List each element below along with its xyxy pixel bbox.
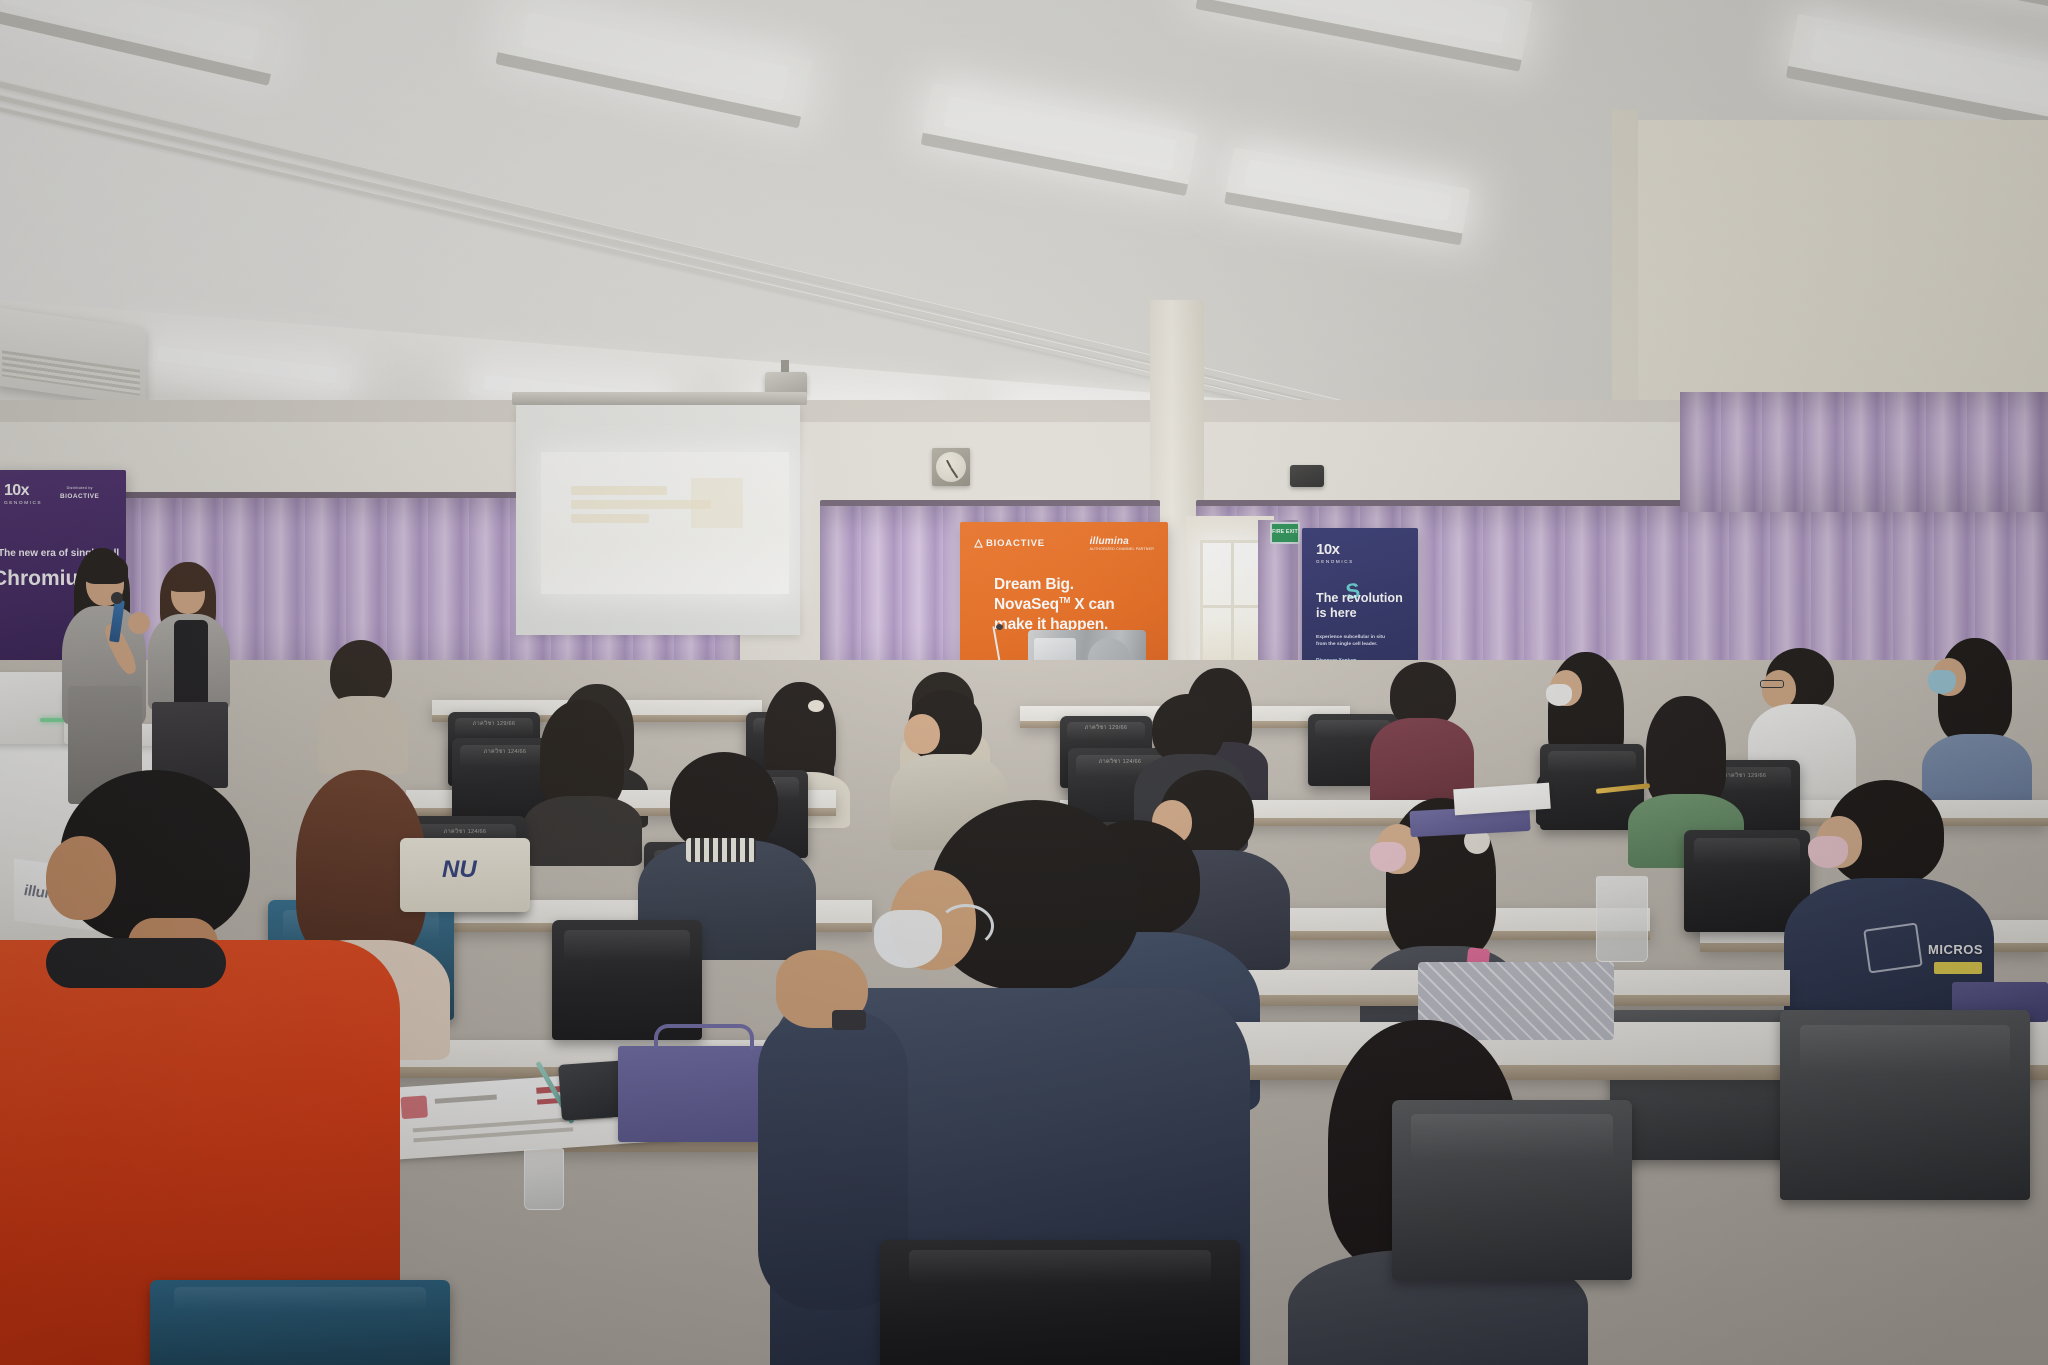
face-mask-foreground <box>874 910 942 968</box>
wall-clock-icon <box>932 448 970 486</box>
tenx-brand-sub-left: GENOMICS <box>4 501 42 506</box>
bioactive-triangle-icon <box>974 539 983 548</box>
illumina-logo: illumina AUTHORIZED CHANNEL PARTNER <box>1090 536 1154 551</box>
tenx-brand-blue: 10x <box>1316 542 1354 557</box>
chair-foreground-right-1[interactable] <box>1392 1100 1632 1280</box>
chair-tag-1: ภาควิชา 129/66 <box>473 720 516 728</box>
mask-ear-loop <box>938 904 994 948</box>
headline-line-1: Dream Big. <box>994 575 1115 595</box>
face-mask-teal <box>1928 670 1956 694</box>
tenx-brand-left: 10x <box>4 483 42 499</box>
wrist-watch <box>832 1010 866 1030</box>
chair-tag-7: ภาควิชา 124/66 <box>444 828 487 836</box>
xenium-headline-line-2: is here <box>1316 606 1410 621</box>
tenx-brand-sub-blue: GENOMICS <box>1316 559 1354 564</box>
chair-r2-1[interactable] <box>552 920 702 1040</box>
illumina-logo-sub: AUTHORIZED CHANNEL PARTNER <box>1090 547 1154 551</box>
bioactive-logo-text: BIOACTIVE <box>986 538 1045 549</box>
chair-tag-2: ภาควิชา 129/66 <box>1085 724 1128 732</box>
tote-handle-left <box>654 1024 754 1050</box>
face-mask-white <box>1546 684 1572 706</box>
headline-line-2b: X can <box>1074 596 1114 613</box>
michigan-shirt-text: MICROS <box>1928 942 1983 957</box>
distributor-name: BIOACTIVE <box>60 493 99 500</box>
headline-trademark: TM <box>1059 596 1070 605</box>
curtain-far-right-upper <box>1680 392 2048 512</box>
illumina-logo-text: illumina <box>1090 536 1129 547</box>
podium-mic-head <box>996 624 1003 630</box>
window <box>1200 540 1262 676</box>
screen-roller <box>512 392 807 405</box>
chair-tag-5: ภาควิชา 124/66 <box>1099 758 1142 766</box>
canvas-bag-text: NU <box>442 856 477 884</box>
shirt-yellow-badge <box>1934 962 1982 974</box>
water-bottle[interactable] <box>1596 876 1648 962</box>
face-mask-pink <box>1370 842 1406 872</box>
canvas-bag-nu[interactable]: NU <box>400 838 530 912</box>
shirt-graphic-icon <box>1863 922 1923 973</box>
headline-line-2: NovaSeq <box>994 596 1059 613</box>
chair-foreground-right-2[interactable] <box>1780 1010 2030 1200</box>
xenium-subtext-line-1: Experience subcellular in situ <box>1316 634 1408 641</box>
eyeglasses-icon <box>1760 680 1784 688</box>
xenium-subtext: Experience subcellular in situ from the … <box>1316 634 1408 648</box>
fire-exit-label: FIRE EXIT <box>1272 530 1298 536</box>
lab-instrument-1 <box>0 672 68 744</box>
chair-tag-6: ภาควิชา 129/66 <box>1724 772 1767 780</box>
novaseq-headline: Dream Big. NovaSeqTM X can make it happe… <box>994 575 1115 635</box>
drinking-cup[interactable] <box>524 1148 564 1210</box>
hair-clip <box>808 700 824 712</box>
bioactive-logo: BIOACTIVE <box>974 538 1045 549</box>
wall-speaker <box>1290 465 1324 487</box>
shirt-collar-dark <box>46 938 226 988</box>
fire-exit-sign: FIRE EXIT <box>1270 522 1300 544</box>
projection-screen <box>512 392 807 637</box>
xenium-headline: The revolution is here <box>1316 591 1410 622</box>
xenium-subtext-line-2: from the single cell leader. <box>1316 641 1408 648</box>
projected-slide <box>541 452 789 594</box>
chair-foreground-center[interactable] <box>880 1240 1240 1365</box>
chair-foreground-left[interactable] <box>150 1280 450 1365</box>
seminar-room-photo: FIRE EXIT 10x GENOMICS Distributed by BI… <box>0 0 2048 1365</box>
distributed-label: Distributed by <box>60 486 99 490</box>
chair-tag-3: ภาควิชา 124/66 <box>484 748 527 756</box>
xenium-headline-line-1: The revolution <box>1316 591 1410 606</box>
face-mask-pink-2 <box>1808 836 1848 868</box>
striped-collar <box>686 838 756 862</box>
